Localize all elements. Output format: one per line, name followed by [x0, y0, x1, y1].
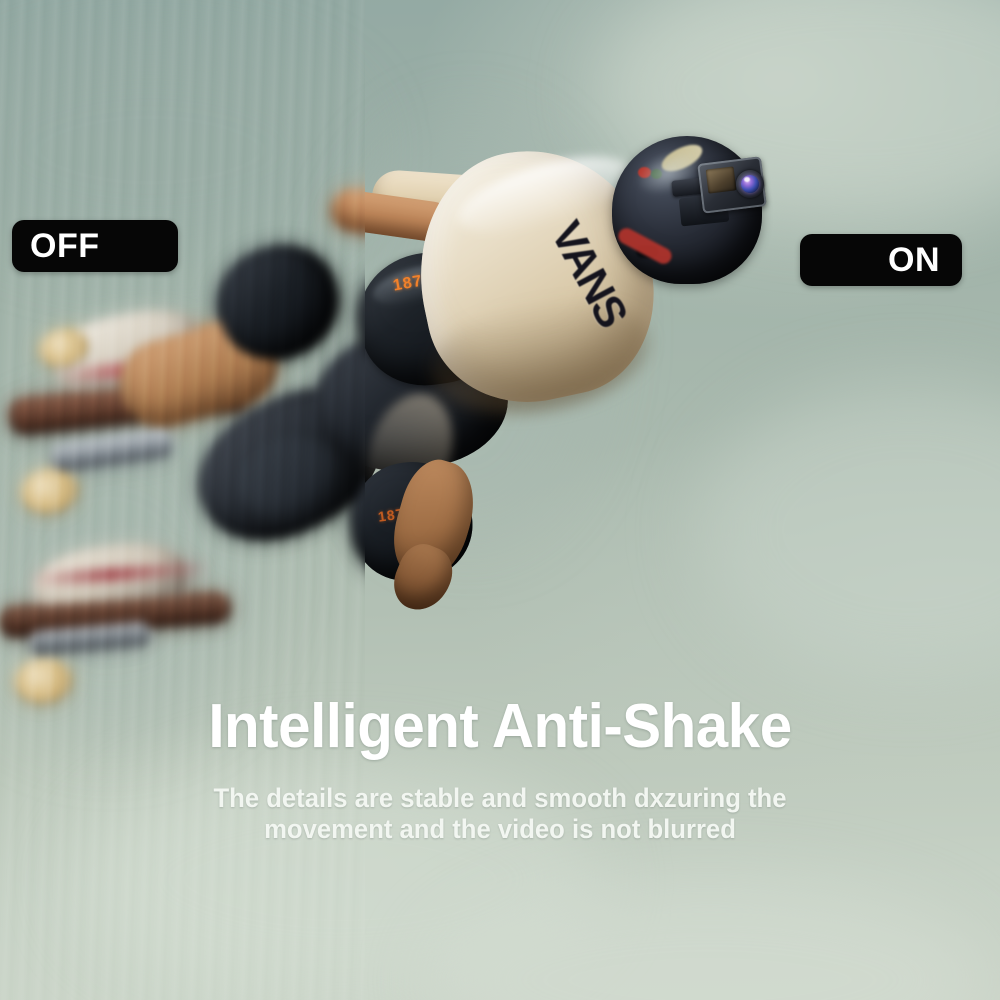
headline: Intelligent Anti-Shake: [30, 696, 970, 758]
camera-screen: [706, 166, 737, 193]
skateboard-truck: [51, 430, 173, 472]
anti-shake-promo-image: 187 187 VANS: [0, 0, 1000, 1000]
skateboard-wheel: [19, 466, 79, 517]
lens-glint: [744, 177, 750, 182]
subtitle: The details are stable and smooth dxzuri…: [25, 783, 975, 846]
badge-on-label: ON: [888, 241, 940, 280]
badge-off-label: OFF: [30, 227, 99, 266]
subtitle-line-1: The details are stable and smooth dxzuri…: [25, 783, 975, 814]
badge-off: OFF: [12, 220, 178, 272]
subtitle-line-2: movement and the video is not blurred: [25, 814, 975, 845]
badge-on: ON: [800, 234, 962, 286]
